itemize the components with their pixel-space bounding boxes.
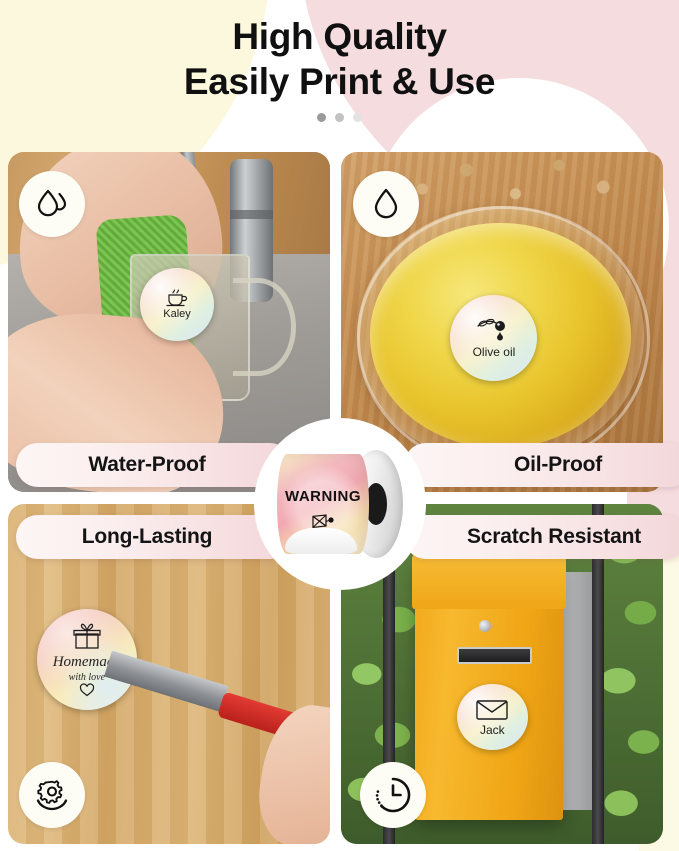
feature-label-long-lasting[interactable]: Long-Lasting (16, 515, 292, 559)
page-title-line1: High Quality (0, 0, 679, 56)
feature-label-scratch-resistant-text: Scratch Resistant (467, 525, 641, 549)
gift-box-icon (69, 622, 105, 652)
clock-icon (372, 774, 414, 816)
mailbox-lid (412, 552, 567, 610)
sticker-jack: Jack (457, 684, 528, 750)
envelope-icon (475, 698, 509, 721)
sticker-jack-text: Jack (480, 723, 505, 737)
carousel-dot-3[interactable] (353, 113, 362, 122)
feature-label-long-lasting-text: Long-Lasting (82, 525, 213, 549)
carousel-dot-2[interactable] (335, 113, 344, 122)
product-infographic: High Quality Easily Print & Use (0, 0, 679, 851)
badge-long-lasting (19, 762, 85, 828)
sticker-olive-oil-text: Olive oil (473, 345, 516, 359)
feature-label-oil-proof[interactable]: Oil-Proof (404, 443, 679, 487)
sticker-roll: WARNING (277, 450, 403, 558)
sticker-kaley-text: Kaley (163, 308, 191, 320)
faucet-ring (230, 210, 273, 219)
badge-scratch-resistant (360, 762, 426, 828)
feature-label-water-proof-text: Water-Proof (88, 453, 205, 477)
teacup-icon (164, 288, 190, 307)
center-product-badge: WARNING (254, 418, 426, 590)
sticker-homemade-line2: with love (69, 672, 105, 683)
sticker-kaley: Kaley (140, 268, 214, 341)
roll-warning-text: WARNING (285, 488, 361, 505)
feature-label-oil-proof-text: Oil-Proof (514, 453, 602, 477)
badge-oil-proof (353, 171, 419, 237)
mailbox-side-panel (563, 572, 592, 810)
water-drops-icon (32, 184, 72, 224)
gear-icon (31, 774, 73, 816)
feature-label-scratch-resistant[interactable]: Scratch Resistant (404, 515, 679, 559)
page-title-line2: Easily Print & Use (0, 56, 679, 101)
mailbox-lock (479, 620, 491, 632)
carousel-dots[interactable] (0, 113, 679, 122)
oil-drop-icon (367, 185, 405, 223)
olive-branch-icon (474, 317, 514, 343)
header: High Quality Easily Print & Use (0, 0, 679, 150)
feature-label-water-proof[interactable]: Water-Proof (16, 443, 292, 487)
heart-icon (79, 683, 95, 697)
mailbox-mail-slot (457, 647, 532, 665)
badge-water-proof (19, 171, 85, 237)
sticker-roll-tail (285, 528, 357, 554)
carousel-dot-1[interactable] (317, 113, 326, 122)
